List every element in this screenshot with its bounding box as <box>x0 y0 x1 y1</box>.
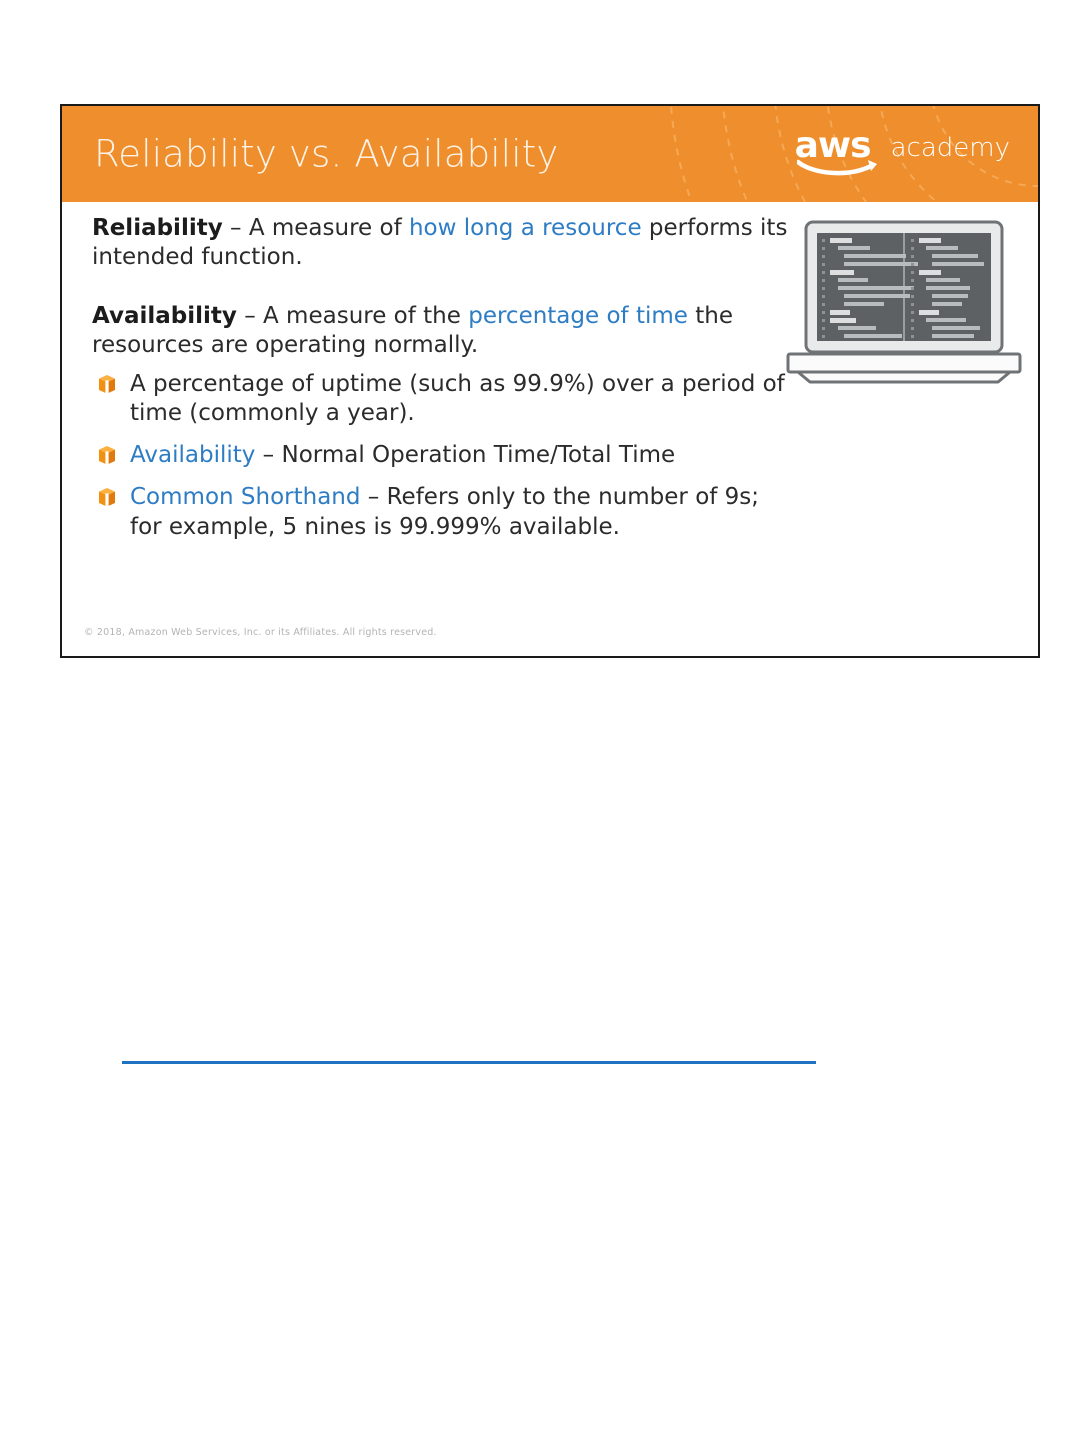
list-item-text: – Normal Operation Time/Total Time <box>255 442 675 468</box>
academy-wordmark: academy <box>891 133 1010 163</box>
reliability-term: Reliability <box>92 215 223 241</box>
reliability-highlight: how long a resource <box>409 215 642 241</box>
reliability-mid: – A measure of <box>223 215 409 241</box>
aws-logo-mark: aws <box>795 131 881 177</box>
horizontal-rule <box>122 1061 816 1064</box>
laptop-illustration <box>784 218 1024 388</box>
slide-header: Reliability vs. Availability aws academy <box>62 106 1038 202</box>
list-item: Availability – Normal Operation Time/Tot… <box>92 441 792 470</box>
aws-smile-icon <box>797 159 881 177</box>
availability-term: Availability <box>92 303 237 329</box>
list-item: Common Shorthand – Refers only to the nu… <box>92 483 792 541</box>
list-item-highlight: Availability <box>130 442 255 468</box>
cube-bullet-icon <box>98 375 116 394</box>
cube-bullet-icon <box>98 488 116 507</box>
cube-bullet-icon <box>98 446 116 465</box>
list-item-highlight: Common Shorthand <box>130 484 360 510</box>
paragraph-availability: Availability – A measure of the percenta… <box>92 302 792 360</box>
slide-canvas: Reliability vs. Availability aws academy <box>60 104 1040 658</box>
availability-highlight: percentage of time <box>468 303 688 329</box>
paragraph-reliability: Reliability – A measure of how long a re… <box>92 214 792 272</box>
copyright-notice: © 2018, Amazon Web Services, Inc. or its… <box>84 627 437 638</box>
page-title: Reliability vs. Availability <box>94 133 559 176</box>
aws-academy-logo: aws academy <box>795 131 1010 177</box>
availability-mid: – A measure of the <box>237 303 468 329</box>
list-item: A percentage of uptime (such as 99.9%) o… <box>92 370 792 428</box>
bullet-list: A percentage of uptime (such as 99.9%) o… <box>92 370 792 542</box>
list-item-text: A percentage of uptime (such as 99.9%) o… <box>130 371 785 426</box>
slide-body: Reliability – A measure of how long a re… <box>92 214 792 555</box>
